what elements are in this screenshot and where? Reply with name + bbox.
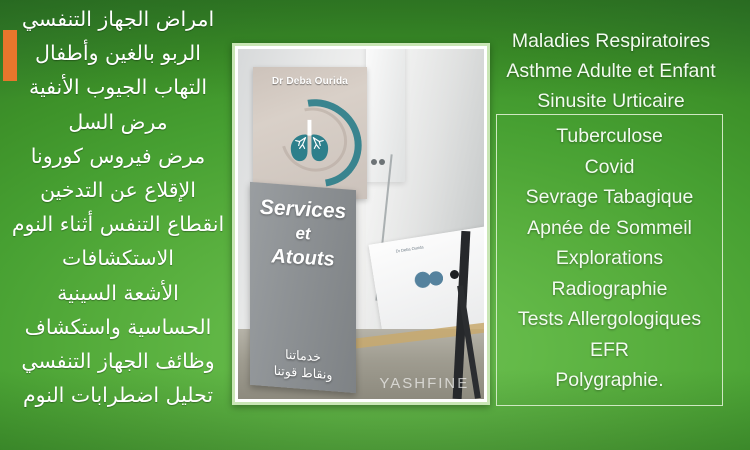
french-heading-block: Maladies Respiratoires Asthme Adulte et …: [477, 26, 745, 116]
arabic-list-item: انقطاع التنفس أثناء النوم: [0, 207, 236, 241]
french-list-item: Tuberculose: [497, 121, 722, 152]
photo-chair: [442, 231, 481, 399]
lungs-icon: [282, 116, 336, 165]
photo-watermark: YASHFINE: [379, 375, 469, 392]
clinic-photo: Dr Deba Ourida Dr Deba Ourida: [238, 49, 484, 399]
french-list-item: Covid: [497, 152, 722, 183]
arabic-list-item: الاستكشافات: [0, 241, 236, 275]
clinic-logo: [266, 98, 353, 180]
french-services-box: Tuberculose Covid Sevrage Tabagique Apné…: [496, 114, 723, 406]
french-list-item: Apnée de Sommeil: [497, 213, 722, 244]
arabic-services-list: امراض الجهاز التنفسي الربو بالغين وأطفال…: [0, 2, 236, 412]
sign-body-panel: Services et Atouts خدماتنا ونقاط قوتنا: [250, 181, 356, 392]
sign-header-panel: Dr Deba Ourida: [253, 67, 368, 199]
french-list-item: EFR: [497, 335, 722, 366]
arabic-list-item: مرض السل: [0, 105, 236, 139]
doctor-name-label: Dr Deba Ourida: [253, 76, 368, 87]
arabic-list-item: وظائف الجهاز التنفسي: [0, 344, 236, 378]
french-list-item: Sevrage Tabagique: [497, 182, 722, 213]
arabic-list-item: امراض الجهاز التنفسي: [0, 2, 236, 36]
arabic-list-item: الحساسية واستكشاف: [0, 310, 236, 344]
standing-sign: Dr Deba Ourida: [250, 67, 371, 389]
french-heading-line: Asthme Adulte et Enfant: [477, 56, 745, 86]
french-list-item: Polygraphie.: [497, 365, 722, 396]
arabic-list-item: الأشعة السينية: [0, 276, 236, 310]
french-list-item: Radiographie: [497, 274, 722, 305]
sign-title-line: Atouts: [250, 242, 356, 273]
arabic-list-item: تحليل اضطرابات النوم: [0, 378, 236, 412]
arabic-list-item: التهاب الجيوب الأنفية: [0, 70, 236, 104]
arabic-list-item: الإقلاع عن التدخين: [0, 173, 236, 207]
arabic-list-item: الربو بالغين وأطفال: [0, 36, 236, 70]
french-list-item: Explorations: [497, 243, 722, 274]
french-heading-line: Maladies Respiratoires: [477, 26, 745, 56]
french-services-list: Tuberculose Covid Sevrage Tabagique Apné…: [497, 121, 722, 396]
leaflet-caption: Dr Deba Ourida: [395, 244, 423, 253]
clinic-photo-frame: Dr Deba Ourida Dr Deba Ourida: [232, 43, 490, 405]
french-list-item: Tests Allergologiques: [497, 304, 722, 335]
french-heading-line: Sinusite Urticaire: [477, 86, 745, 116]
sign-title-line: Services: [250, 193, 356, 224]
arabic-list-item: مرض فيروس كورونا: [0, 139, 236, 173]
slide-canvas: امراض الجهاز التنفسي الربو بالغين وأطفال…: [0, 0, 750, 450]
